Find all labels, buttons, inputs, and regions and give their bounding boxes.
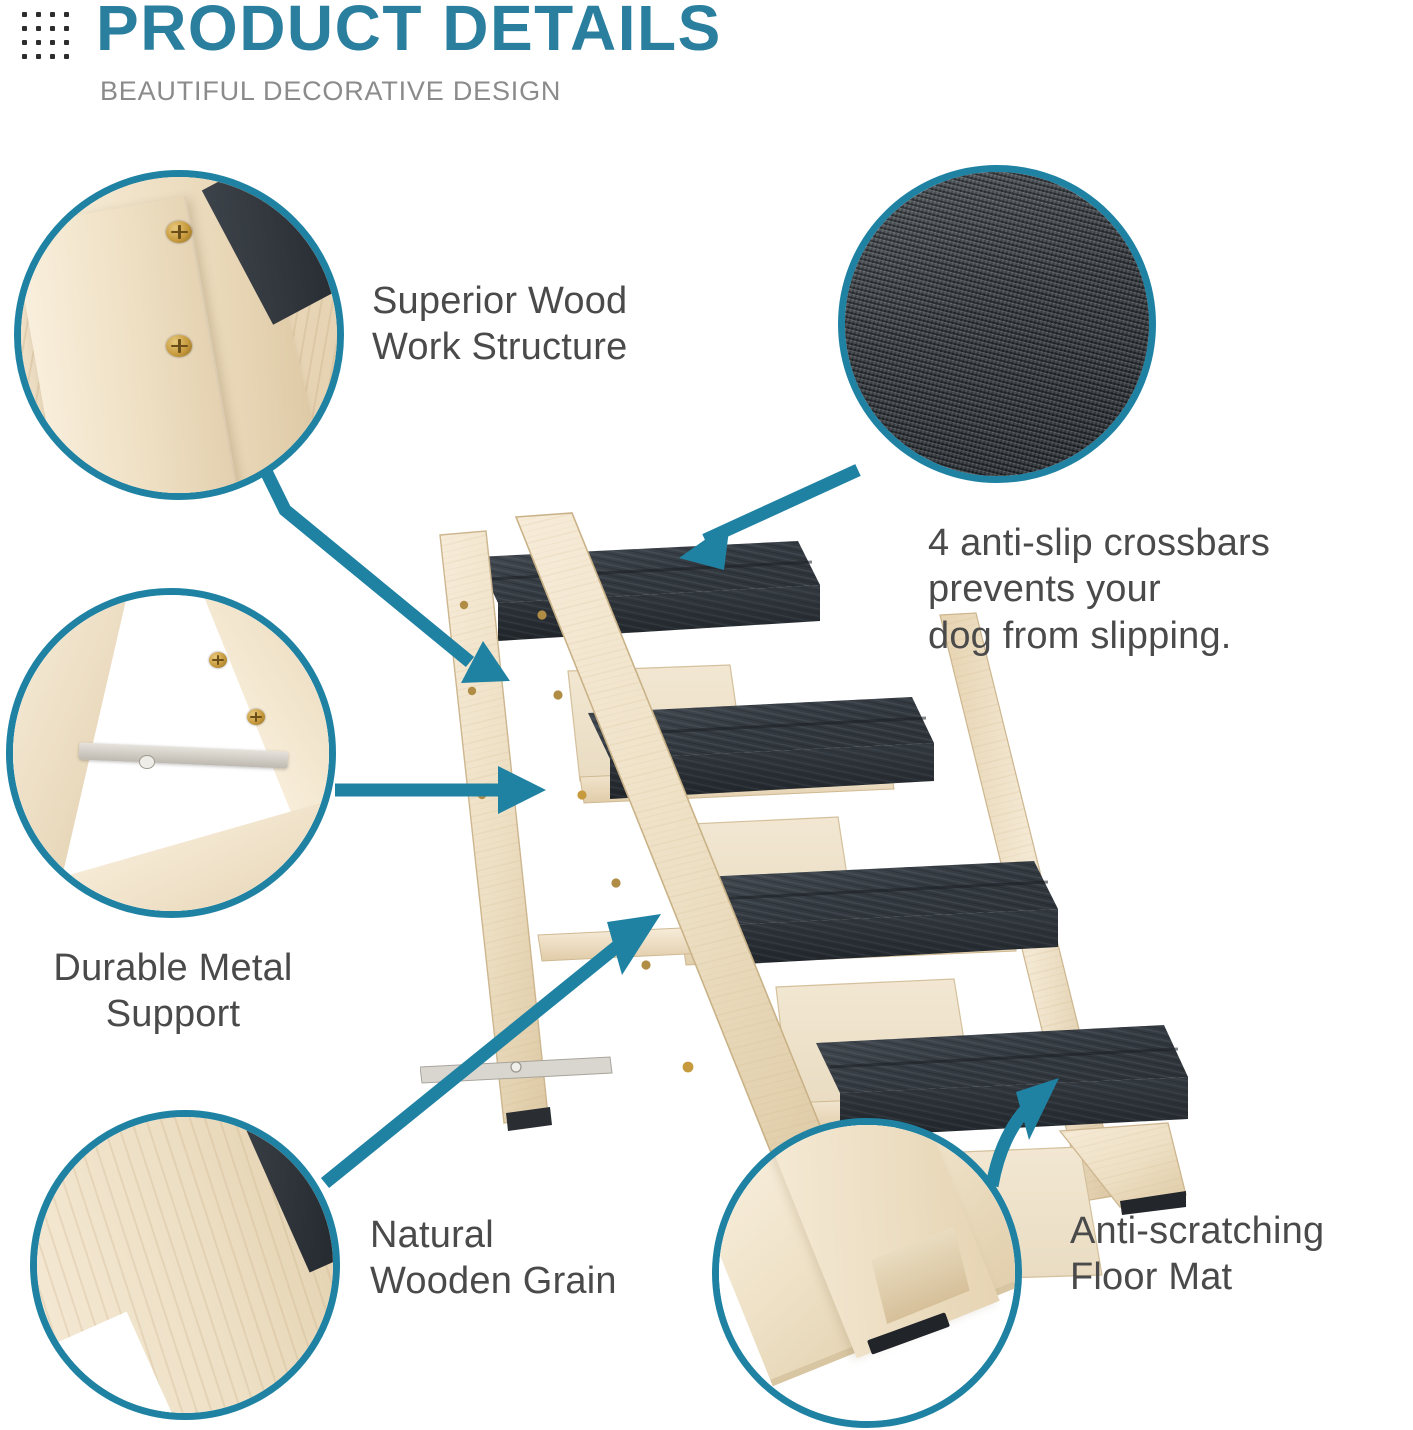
infographic-page: PRODUCT DETAILS BEAUTIFUL DECORATIVE DES…	[0, 0, 1413, 1430]
callout-circle-natural-wooden-grain	[30, 1110, 340, 1420]
brass-screw-icon	[209, 652, 227, 668]
label-superior-wood-work-structure: Superior Wood Work Structure	[372, 278, 628, 371]
callout-circle-anti-scratching-floor-mat	[712, 1118, 1022, 1428]
tread-1	[476, 541, 820, 641]
dot-grid-icon	[22, 12, 74, 68]
label-anti-scratching-floor-mat: Anti-scratching Floor Mat	[1070, 1208, 1324, 1301]
carpet-texture-detail-image	[843, 170, 1151, 478]
callout-circle-superior-wood-work-structure	[14, 170, 344, 500]
page-title: PRODUCT DETAILS	[96, 0, 722, 60]
callout-circle-anti-slip-crossbars	[838, 165, 1156, 483]
tread-3	[702, 861, 1058, 965]
label-durable-metal-support: Durable Metal Support	[8, 945, 338, 1038]
callout-circle-durable-metal-support	[6, 588, 336, 918]
brass-screw-icon	[247, 709, 265, 725]
label-anti-slip-crossbars: 4 anti-slip crossbars prevents your dog …	[928, 520, 1270, 659]
page-subtitle: BEAUTIFUL DECORATIVE DESIGN	[100, 76, 561, 107]
label-natural-wooden-grain: Natural Wooden Grain	[370, 1212, 617, 1305]
